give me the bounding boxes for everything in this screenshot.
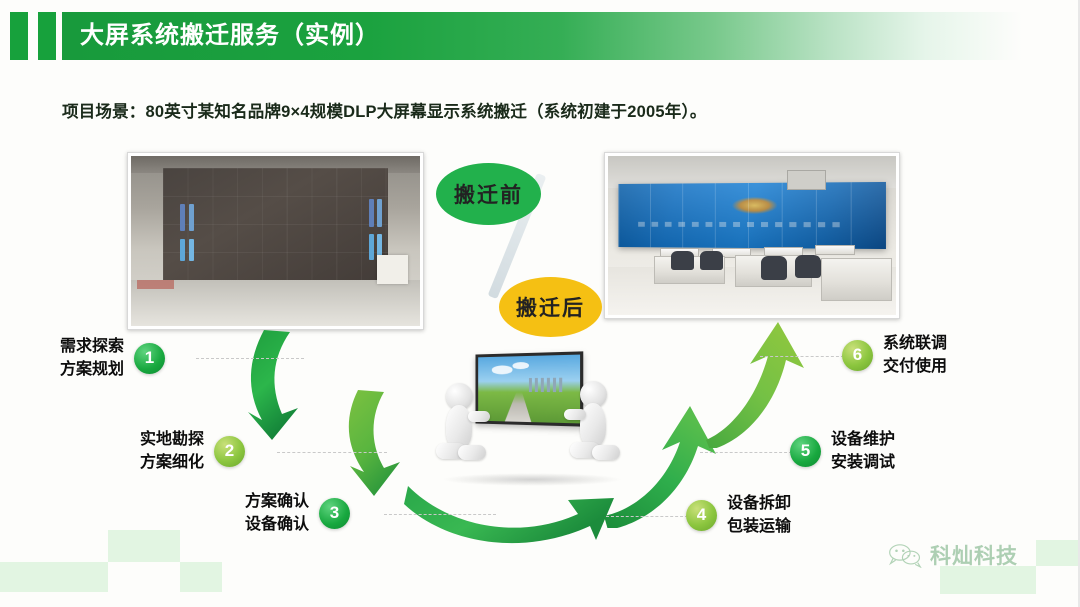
- mover-arm-right: [564, 409, 586, 420]
- header-accent-bar-1: [10, 12, 28, 60]
- photo-before-light-strip: [369, 234, 374, 260]
- project-scenario-text: 项目场景：80英寸某知名品牌9×4规模DLP大屏幕显示系统搬迁（系统初建于200…: [62, 98, 707, 122]
- photo-after-chair: [761, 256, 787, 280]
- movers-shadow: [442, 473, 622, 486]
- process-step-2-number: 2: [214, 436, 245, 467]
- process-step-3[interactable]: 方案确认 设备确认 3: [245, 490, 350, 536]
- photo-before-light-strip: [369, 199, 374, 228]
- process-step-6-line2: 交付使用: [883, 355, 947, 378]
- city-skyline-shape: [529, 378, 565, 392]
- process-step-3-line1: 方案确认: [245, 490, 309, 513]
- mover-leg-left-2: [458, 445, 486, 460]
- process-step-3-label: 方案确认 设备确认: [245, 490, 309, 536]
- photo-before-object: [137, 280, 175, 289]
- process-step-2-label: 实地勘探 方案细化: [140, 428, 204, 474]
- process-step-4-line1: 设备拆卸: [727, 492, 791, 515]
- page-title: 大屏系统搬迁服务（实例）: [80, 19, 380, 53]
- photo-after-chair: [795, 255, 821, 279]
- mover-arm-left: [468, 411, 490, 422]
- photo-before-relocation: [127, 152, 424, 330]
- process-step-1-number: 1: [134, 343, 165, 374]
- process-step-5[interactable]: 5 设备维护 安装调试: [790, 428, 895, 474]
- footer-deco-block-3: [180, 562, 222, 592]
- leader-line-3: [384, 514, 496, 515]
- photo-before-light-strip: [189, 239, 194, 261]
- photo-before-light-strip: [189, 204, 194, 231]
- process-step-6[interactable]: 6 系统联调 交付使用: [842, 332, 947, 378]
- cloud-shape: [491, 366, 512, 375]
- process-step-3-line2: 设备确认: [245, 513, 309, 536]
- process-step-4-label: 设备拆卸 包装运输: [727, 492, 791, 538]
- process-step-4-number: 4: [686, 500, 717, 531]
- footer-deco-block-5: [1036, 540, 1080, 566]
- process-step-3-number: 3: [319, 498, 350, 529]
- movers-illustration: [424, 345, 639, 490]
- flow-arrow-1: [230, 328, 370, 448]
- photo-after-video-wall: [618, 182, 885, 249]
- leader-line-5: [700, 452, 792, 453]
- process-step-1-line1: 需求探索: [60, 335, 124, 358]
- photo-after-desk: [821, 258, 892, 301]
- badge-before-label: 搬迁前: [454, 179, 523, 209]
- process-step-1[interactable]: 需求探索 方案规划 1: [60, 335, 165, 381]
- watermark-text: 科灿科技: [930, 540, 1018, 570]
- process-step-4-line2: 包装运输: [727, 515, 791, 538]
- leader-line-2: [277, 452, 387, 453]
- badge-after-label: 搬迁后: [516, 292, 585, 322]
- process-step-6-number: 6: [842, 340, 873, 371]
- header-accent-bar-2: [38, 12, 56, 60]
- process-step-5-line2: 安装调试: [831, 451, 895, 474]
- road-shape: [486, 392, 552, 423]
- process-step-5-number: 5: [790, 436, 821, 467]
- process-step-5-line1: 设备维护: [831, 428, 895, 451]
- footer-deco-block-4: [940, 566, 1036, 594]
- photo-after-chair: [671, 251, 694, 270]
- photo-after-relocation: [604, 152, 900, 319]
- process-step-2[interactable]: 实地勘探 方案细化 2: [140, 428, 245, 474]
- photo-before-image: [131, 156, 420, 326]
- process-step-5-label: 设备维护 安装调试: [831, 428, 895, 474]
- mover-leg-right-2: [592, 445, 620, 460]
- photo-before-screen-wall: [163, 168, 388, 280]
- photo-after-camera-rig: [787, 170, 826, 189]
- process-step-2-line1: 实地勘探: [140, 428, 204, 451]
- badge-before-relocation: 搬迁前: [436, 163, 541, 225]
- photo-after-monitor: [815, 245, 854, 255]
- photo-after-chair: [700, 251, 723, 270]
- process-step-6-label: 系统联调 交付使用: [883, 332, 947, 378]
- process-step-1-line2: 方案规划: [60, 358, 124, 381]
- photo-after-wall-logo: [732, 197, 778, 214]
- photo-before-light-strip: [180, 204, 185, 231]
- slide-header: 大屏系统搬迁服务（实例）: [0, 0, 1080, 72]
- cloud-shape: [513, 362, 529, 369]
- footer-deco-block-1: [0, 562, 108, 592]
- badge-after-relocation: 搬迁后: [499, 277, 602, 337]
- watermark: 科灿科技: [888, 540, 1018, 570]
- leader-line-6: [760, 356, 844, 357]
- photo-before-crate: [377, 255, 409, 284]
- photo-after-wall-text: [638, 222, 846, 227]
- photo-after-image: [608, 156, 896, 315]
- footer-deco-block-2: [108, 530, 180, 562]
- photo-before-light-strip: [180, 239, 185, 261]
- leader-line-1: [196, 358, 304, 359]
- process-step-4[interactable]: 4 设备拆卸 包装运输: [686, 492, 791, 538]
- photo-before-light-strip: [377, 199, 382, 228]
- wechat-icon: [888, 542, 922, 568]
- leader-line-4: [606, 516, 688, 517]
- process-step-6-line1: 系统联调: [883, 332, 947, 355]
- photo-before-floor: [131, 280, 420, 326]
- process-step-1-label: 需求探索 方案规划: [60, 335, 124, 381]
- process-step-2-line2: 方案细化: [140, 451, 204, 474]
